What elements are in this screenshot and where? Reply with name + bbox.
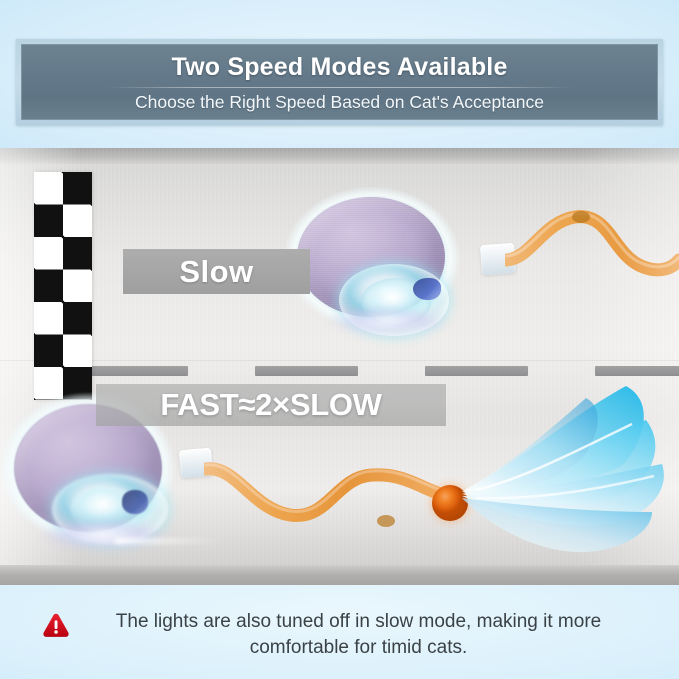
footer-note: The lights are also tuned off in slow mo… [0, 590, 679, 679]
header-banner-panel: Two Speed Modes Available Choose the Rig… [21, 44, 658, 120]
page-subtitle: Choose the Right Speed Based on Cat's Ac… [135, 94, 544, 112]
ball-motor-detail [413, 278, 441, 300]
wand-knot [377, 515, 395, 527]
checkered-flag-icon [34, 172, 92, 400]
page-title: Two Speed Modes Available [171, 55, 507, 80]
feather-teaser-fan [456, 372, 679, 562]
lane-dash [85, 366, 188, 376]
track-seam [0, 360, 679, 361]
header-divider [108, 87, 572, 88]
ball-under-glow [22, 516, 186, 554]
warning-triangle-icon [42, 612, 70, 644]
footer-row: The lights are also tuned off in slow mo… [42, 609, 637, 660]
feather-wand-tail-slow [505, 198, 679, 293]
header-banner: Two Speed Modes Available Choose the Rig… [16, 39, 663, 125]
feather-wand-tail-fast [204, 443, 454, 548]
ball-under-glow [313, 304, 463, 338]
label-slow: Slow [123, 249, 310, 294]
rolling-cat-ball-slow [283, 186, 483, 336]
label-fast: FAST≈2×SLOW [96, 384, 446, 426]
ball-motor-detail [122, 490, 148, 514]
track-top-edge [0, 148, 679, 164]
track-bottom-edge [0, 565, 679, 585]
wand-knot [572, 211, 590, 223]
product-infographic: Two Speed Modes Available Choose the Rig… [0, 0, 679, 679]
lane-dash [255, 366, 358, 376]
footer-text: The lights are also tuned off in slow mo… [80, 609, 637, 660]
